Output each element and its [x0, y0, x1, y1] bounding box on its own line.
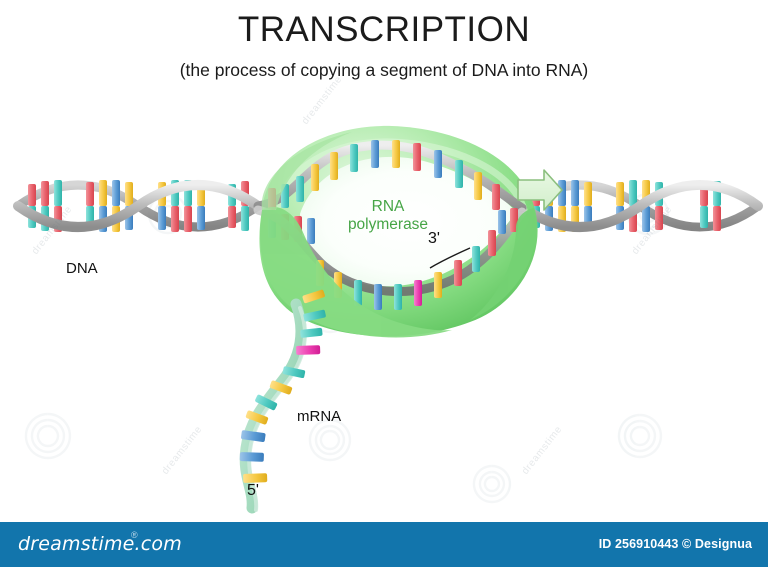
dna-label: DNA: [66, 260, 98, 277]
mrna-label: mRNA: [297, 408, 341, 425]
transcription-diagram: DNA RNA polymerase 3' mRNA 5': [0, 118, 768, 522]
page-title: TRANSCRIPTION: [0, 12, 768, 49]
registered-mark-icon: ®: [131, 530, 138, 540]
page-subtitle: (the process of copying a segment of DNA…: [0, 60, 768, 81]
five-prime-label: 5': [247, 482, 259, 500]
title-block: TRANSCRIPTION (the process of copying a …: [0, 12, 768, 81]
footer-bar: dreamstime.com ® ID 256910443 © Designua: [0, 522, 768, 567]
three-prime-label: 3': [428, 230, 440, 248]
dreamstime-logo[interactable]: dreamstime.com: [18, 533, 182, 555]
rna-polymerase-label-line2: polymerase: [348, 216, 428, 233]
image-credit: ID 256910443 © Designua: [599, 537, 752, 551]
illustration-canvas: TRANSCRIPTION (the process of copying a …: [0, 0, 768, 567]
diagram-svg: [0, 118, 768, 522]
rna-polymerase-label: RNA polymerase: [336, 198, 440, 235]
mrna-bases: [240, 289, 326, 483]
rna-polymerase-label-line1: RNA: [372, 198, 405, 215]
dna-left-segment: [18, 180, 258, 232]
